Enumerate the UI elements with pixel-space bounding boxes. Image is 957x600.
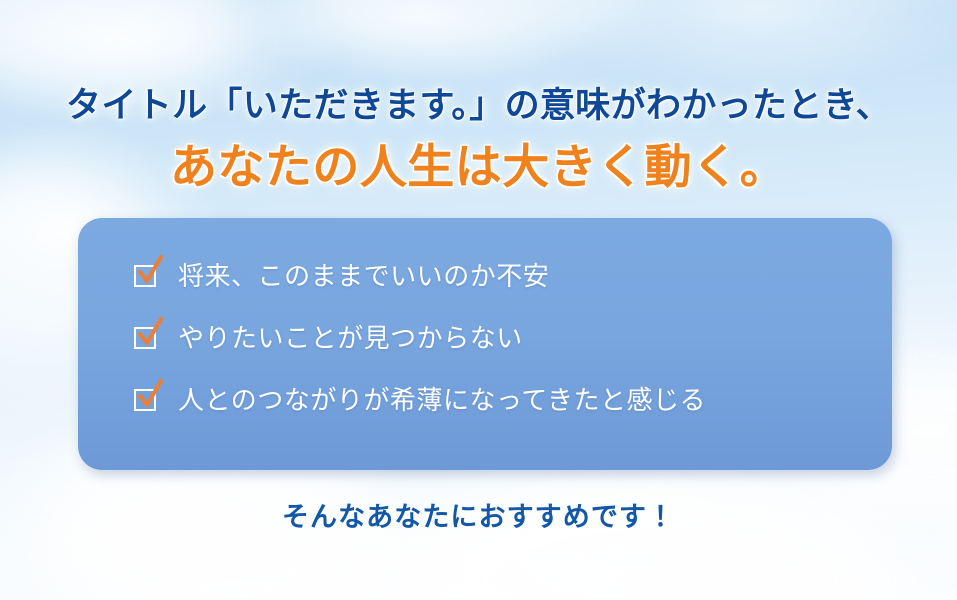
cloud-decoration — [300, 0, 640, 60]
checked-checkbox-icon[interactable] — [134, 263, 160, 289]
checklist-panel: 将来、このままでいいのか不安 やりたいことが見つからない 人とのつながりが希薄に… — [78, 218, 892, 470]
slide-canvas: タイトル「いただきます。」の意味がわかったとき、 あなたの人生は大きく動く。 将… — [0, 0, 957, 600]
list-item[interactable]: やりたいことが見つからない — [134, 318, 892, 358]
list-item-label: 将来、このままでいいのか不安 — [178, 261, 549, 291]
footer-recommendation-text: そんなあなたにおすすめです！ — [0, 499, 957, 535]
headline-line-1: タイトル「いただきます。」の意味がわかったとき、 — [0, 84, 957, 128]
checked-checkbox-icon[interactable] — [134, 387, 160, 413]
headline-line-2: あなたの人生は大きく動く。 — [0, 138, 957, 196]
check-mark-icon — [137, 380, 163, 410]
list-item[interactable]: 将来、このままでいいのか不安 — [134, 256, 892, 296]
list-item-label: やりたいことが見つからない — [178, 323, 523, 353]
check-mark-icon — [137, 256, 163, 286]
list-item[interactable]: 人とのつながりが希薄になってきたと感じる — [134, 380, 892, 420]
cloud-decoration — [0, 0, 240, 90]
check-mark-icon — [137, 318, 163, 348]
list-item-label: 人とのつながりが希薄になってきたと感じる — [178, 385, 706, 415]
cloud-decoration — [420, 470, 900, 600]
checked-checkbox-icon[interactable] — [134, 325, 160, 351]
